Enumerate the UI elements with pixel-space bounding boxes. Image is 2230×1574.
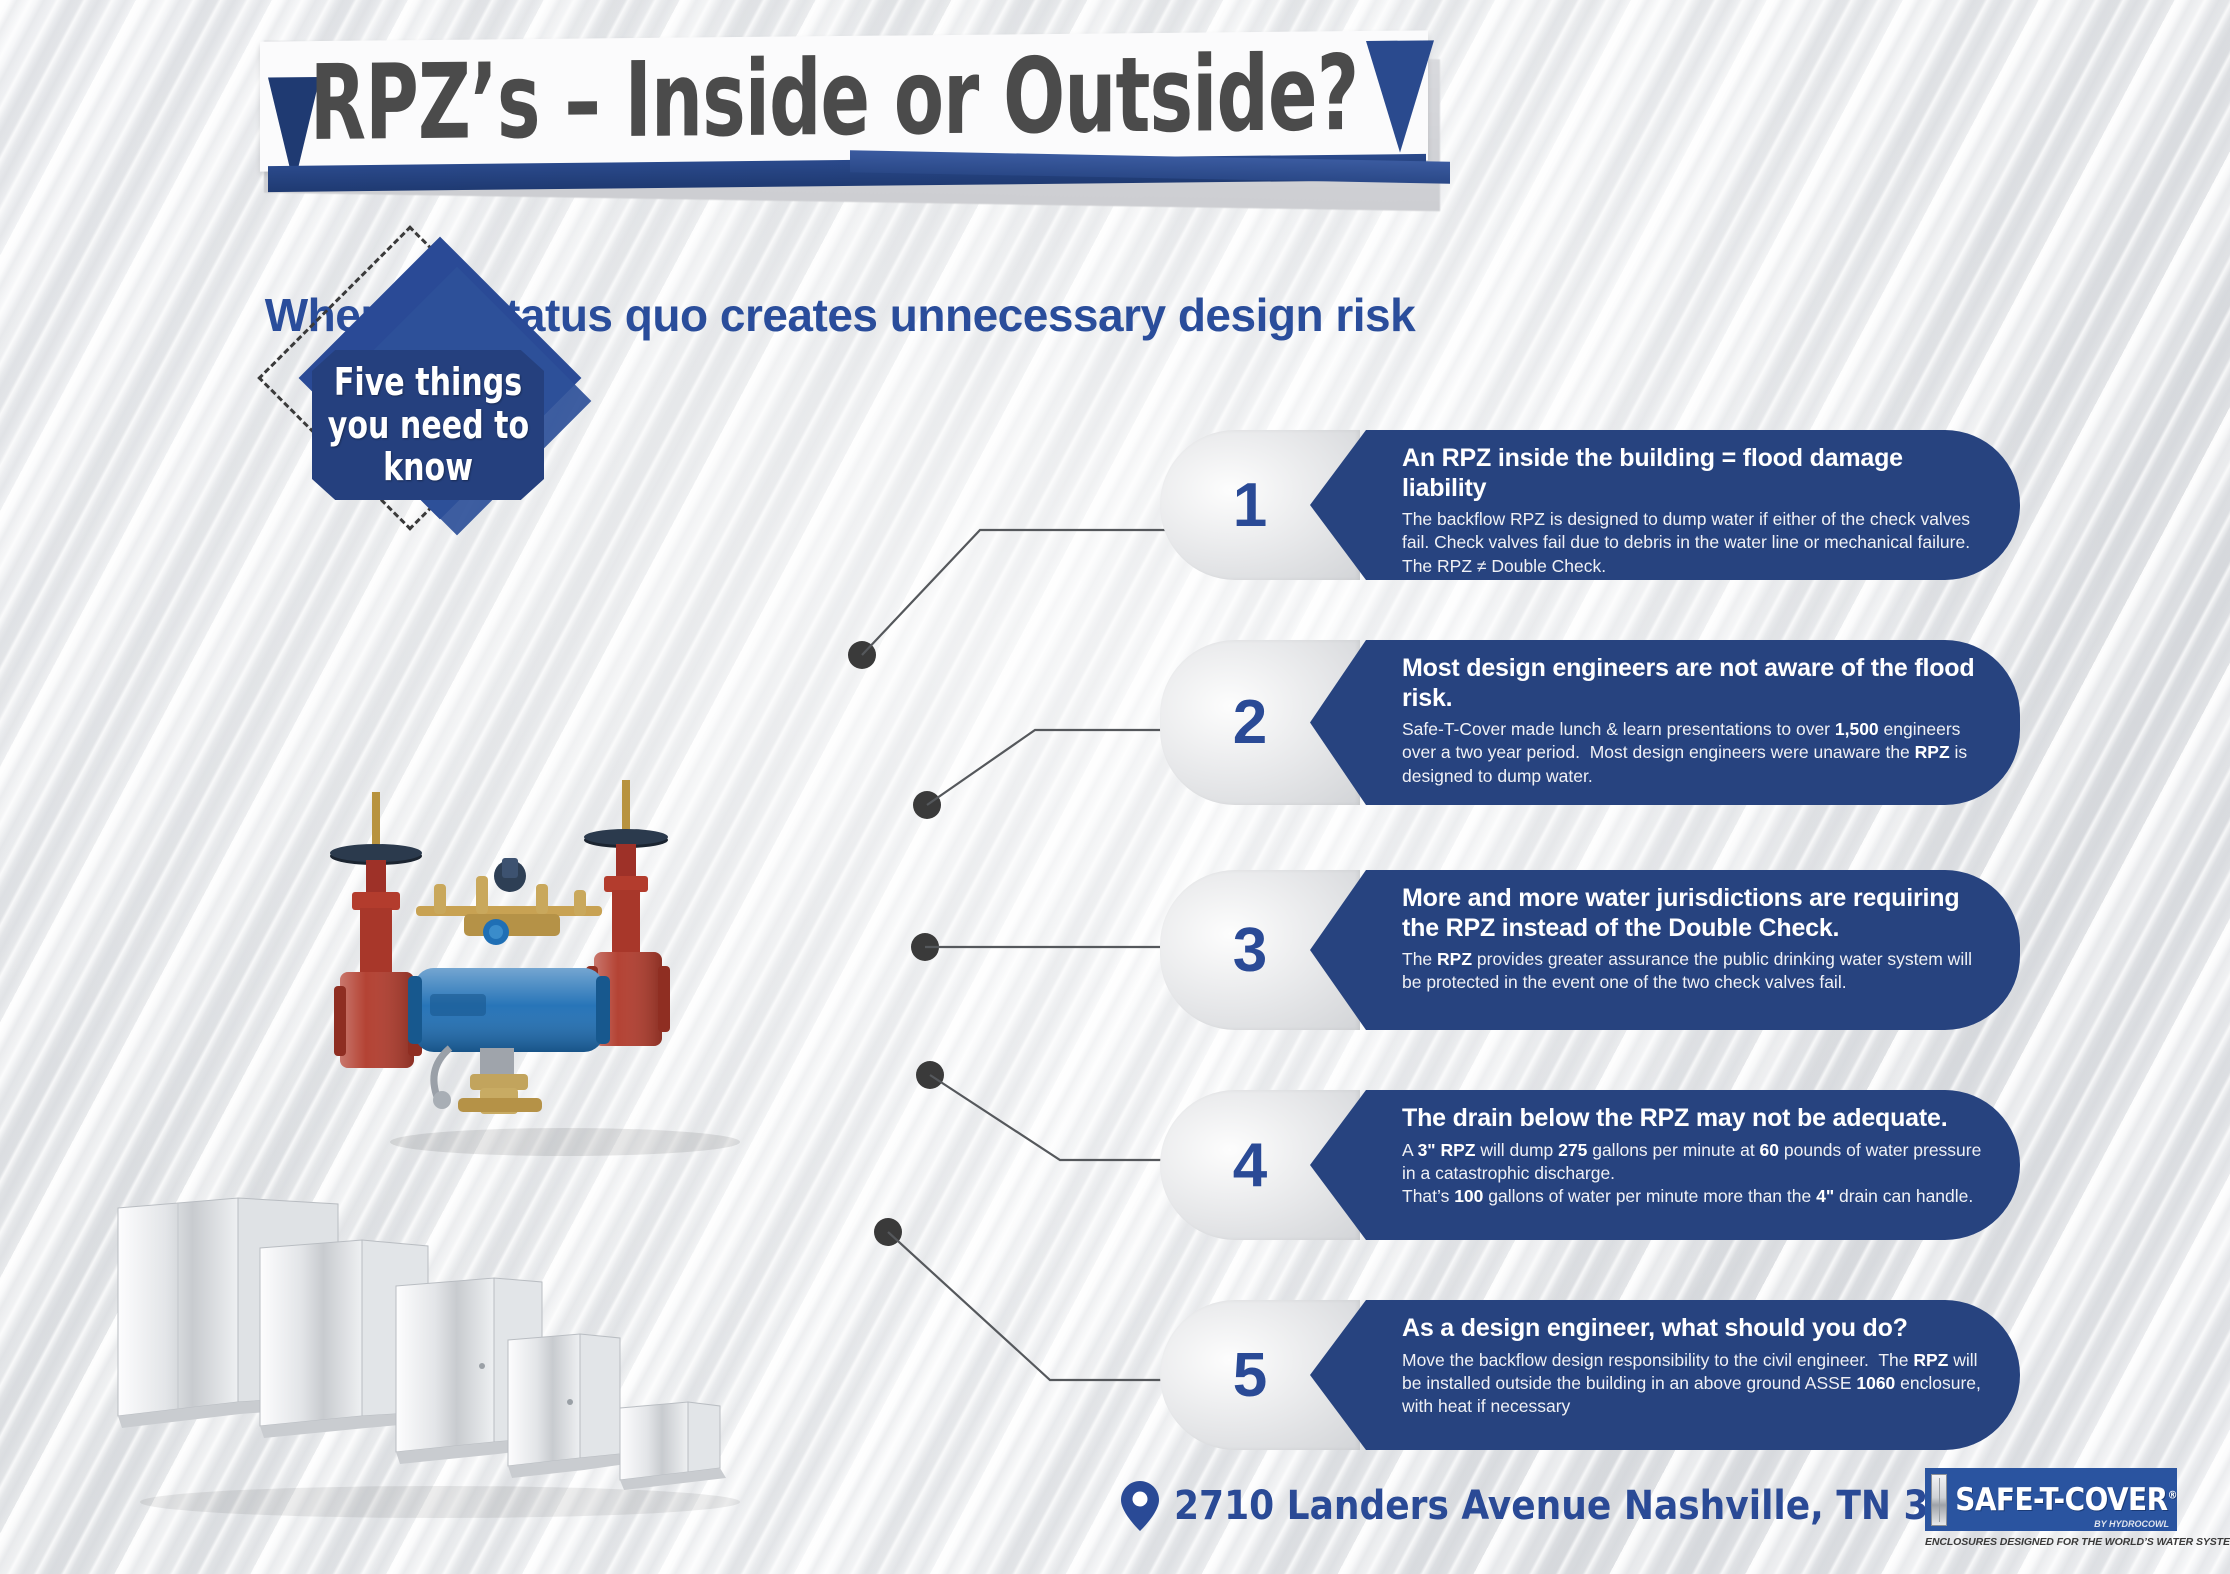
item-title: More and more water jurisdictions are re… <box>1402 884 1984 943</box>
list-item[interactable]: 5 As a design engineer, what should you … <box>1160 1300 2020 1450</box>
item-title: An RPZ inside the building = flood damag… <box>1402 444 1984 503</box>
brass-manifold-icon <box>416 858 602 945</box>
relief-valve-drain-icon <box>433 1048 542 1114</box>
page-title-text: RPZ’s – Inside or Outside? <box>310 32 1358 164</box>
enclosure-small-icon <box>508 1334 626 1478</box>
list-item[interactable]: 2 Most design engineers are not aware of… <box>1160 640 2020 805</box>
registered-trademark-icon: ® <box>2168 1488 2177 1501</box>
logo-name: SAFE-T-COVER <box>1955 1482 2167 1518</box>
item-body: The backflow RPZ is designed to dump wat… <box>1402 508 1984 578</box>
item-title: Most design engineers are not aware of t… <box>1402 654 1984 713</box>
item-panel: The drain below the RPZ may not be adequ… <box>1310 1090 2020 1240</box>
item-body: The RPZ provides greater assurance the p… <box>1402 948 1984 995</box>
badge-line-3: know <box>383 446 473 489</box>
item-body: Move the backflow design responsibility … <box>1402 1349 1984 1419</box>
aluminum-enclosures-illustration <box>110 1190 790 1520</box>
logo-box: SAFE-T-COVER® BY HYDROCOWL <box>1925 1468 2177 1531</box>
safe-t-cover-logo[interactable]: SAFE-T-COVER® BY HYDROCOWL ENCLOSURES DE… <box>1925 1468 2200 1558</box>
badge-line-2: you need to <box>327 404 528 447</box>
item-title: As a design engineer, what should you do… <box>1402 1314 1984 1344</box>
item-panel: As a design engineer, what should you do… <box>1310 1300 2020 1450</box>
footer-address: 2710 Landers Avenue Nashville, TN 37211 <box>1120 1480 2029 1532</box>
enclosure-mini-icon <box>620 1402 726 1490</box>
logo-byline: BY HYDROCOWL <box>2094 1519 2169 1529</box>
badge-text: Five things you need to know <box>314 361 543 489</box>
rpz-backflow-valve-illustration <box>330 780 800 1160</box>
item-panel: An RPZ inside the building = flood damag… <box>1310 430 2020 580</box>
page-title: RPZ’s – Inside or Outside? <box>250 28 1418 167</box>
item-body: Safe-T-Cover made lunch & learn presenta… <box>1402 718 1984 788</box>
item-panel: More and more water jurisdictions are re… <box>1310 870 2020 1030</box>
list-item[interactable]: 4 The drain below the RPZ may not be ade… <box>1160 1090 2020 1240</box>
address-text: 2710 Landers Avenue Nashville, TN 37211 <box>1174 1483 2029 1529</box>
badge-line-1: Five things <box>334 361 522 404</box>
item-panel: Most design engineers are not aware of t… <box>1310 640 2020 805</box>
five-things-badge: Five things you need to know <box>292 258 612 578</box>
list-item[interactable]: 3 More and more water jurisdictions are … <box>1160 870 2020 1030</box>
location-pin-icon <box>1120 1480 1160 1532</box>
logo-wordmark: SAFE-T-COVER® <box>1955 1482 2177 1518</box>
item-title: The drain below the RPZ may not be adequ… <box>1402 1104 1984 1134</box>
badge-ribbon: Five things you need to know <box>312 350 544 500</box>
logo-enclosure-icon <box>1931 1474 1947 1526</box>
list-item[interactable]: 1 An RPZ inside the building = flood dam… <box>1160 430 2020 580</box>
logo-tagline: ENCLOSURES DESIGNED FOR THE WORLD’S WATE… <box>1925 1536 2200 1548</box>
rpz-blue-body-icon <box>408 968 610 1052</box>
item-body: A 3" RPZ will dump 275 gallons per minut… <box>1402 1139 1984 1209</box>
header-banner: RPZ’s – Inside or Outside? <box>250 28 1430 188</box>
